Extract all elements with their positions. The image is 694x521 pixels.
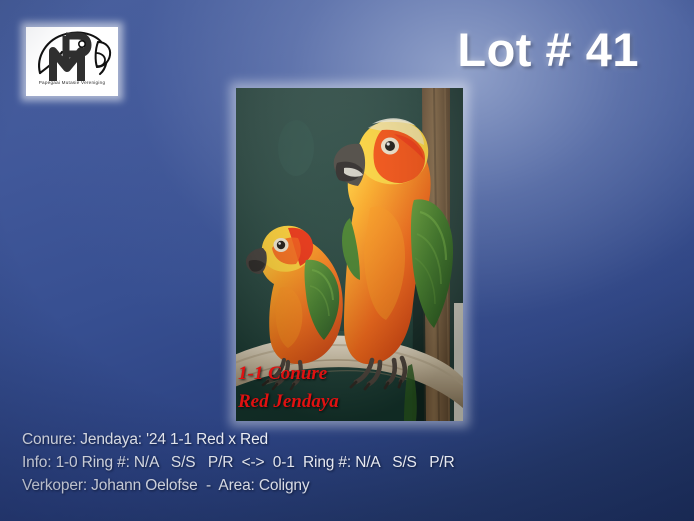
pmv-logo: Papegaai Mutasie Vereniging [26,27,118,96]
logo-caption: Papegaai Mutasie Vereniging [26,80,118,85]
info-line-species: Conure: Jendaya: '24 1-1 Red x Red [22,428,662,451]
page-title: Lot # 41 [457,26,639,73]
lot-photo [236,88,463,421]
parrot-head-logo-icon [26,27,118,84]
info-line-seller: Verkoper: Johann Oelofse - Area: Coligny [22,474,662,497]
auction-lot-slide: Papegaai Mutasie Vereniging Lot # 41 [0,0,694,521]
lot-info-block: Conure: Jendaya: '24 1-1 Red x Red Info:… [22,428,662,497]
conure-pair-photograph [236,88,463,421]
info-line-rings: Info: 1-0 Ring #: N/A S/S P/R <-> 0-1 Ri… [22,451,662,474]
